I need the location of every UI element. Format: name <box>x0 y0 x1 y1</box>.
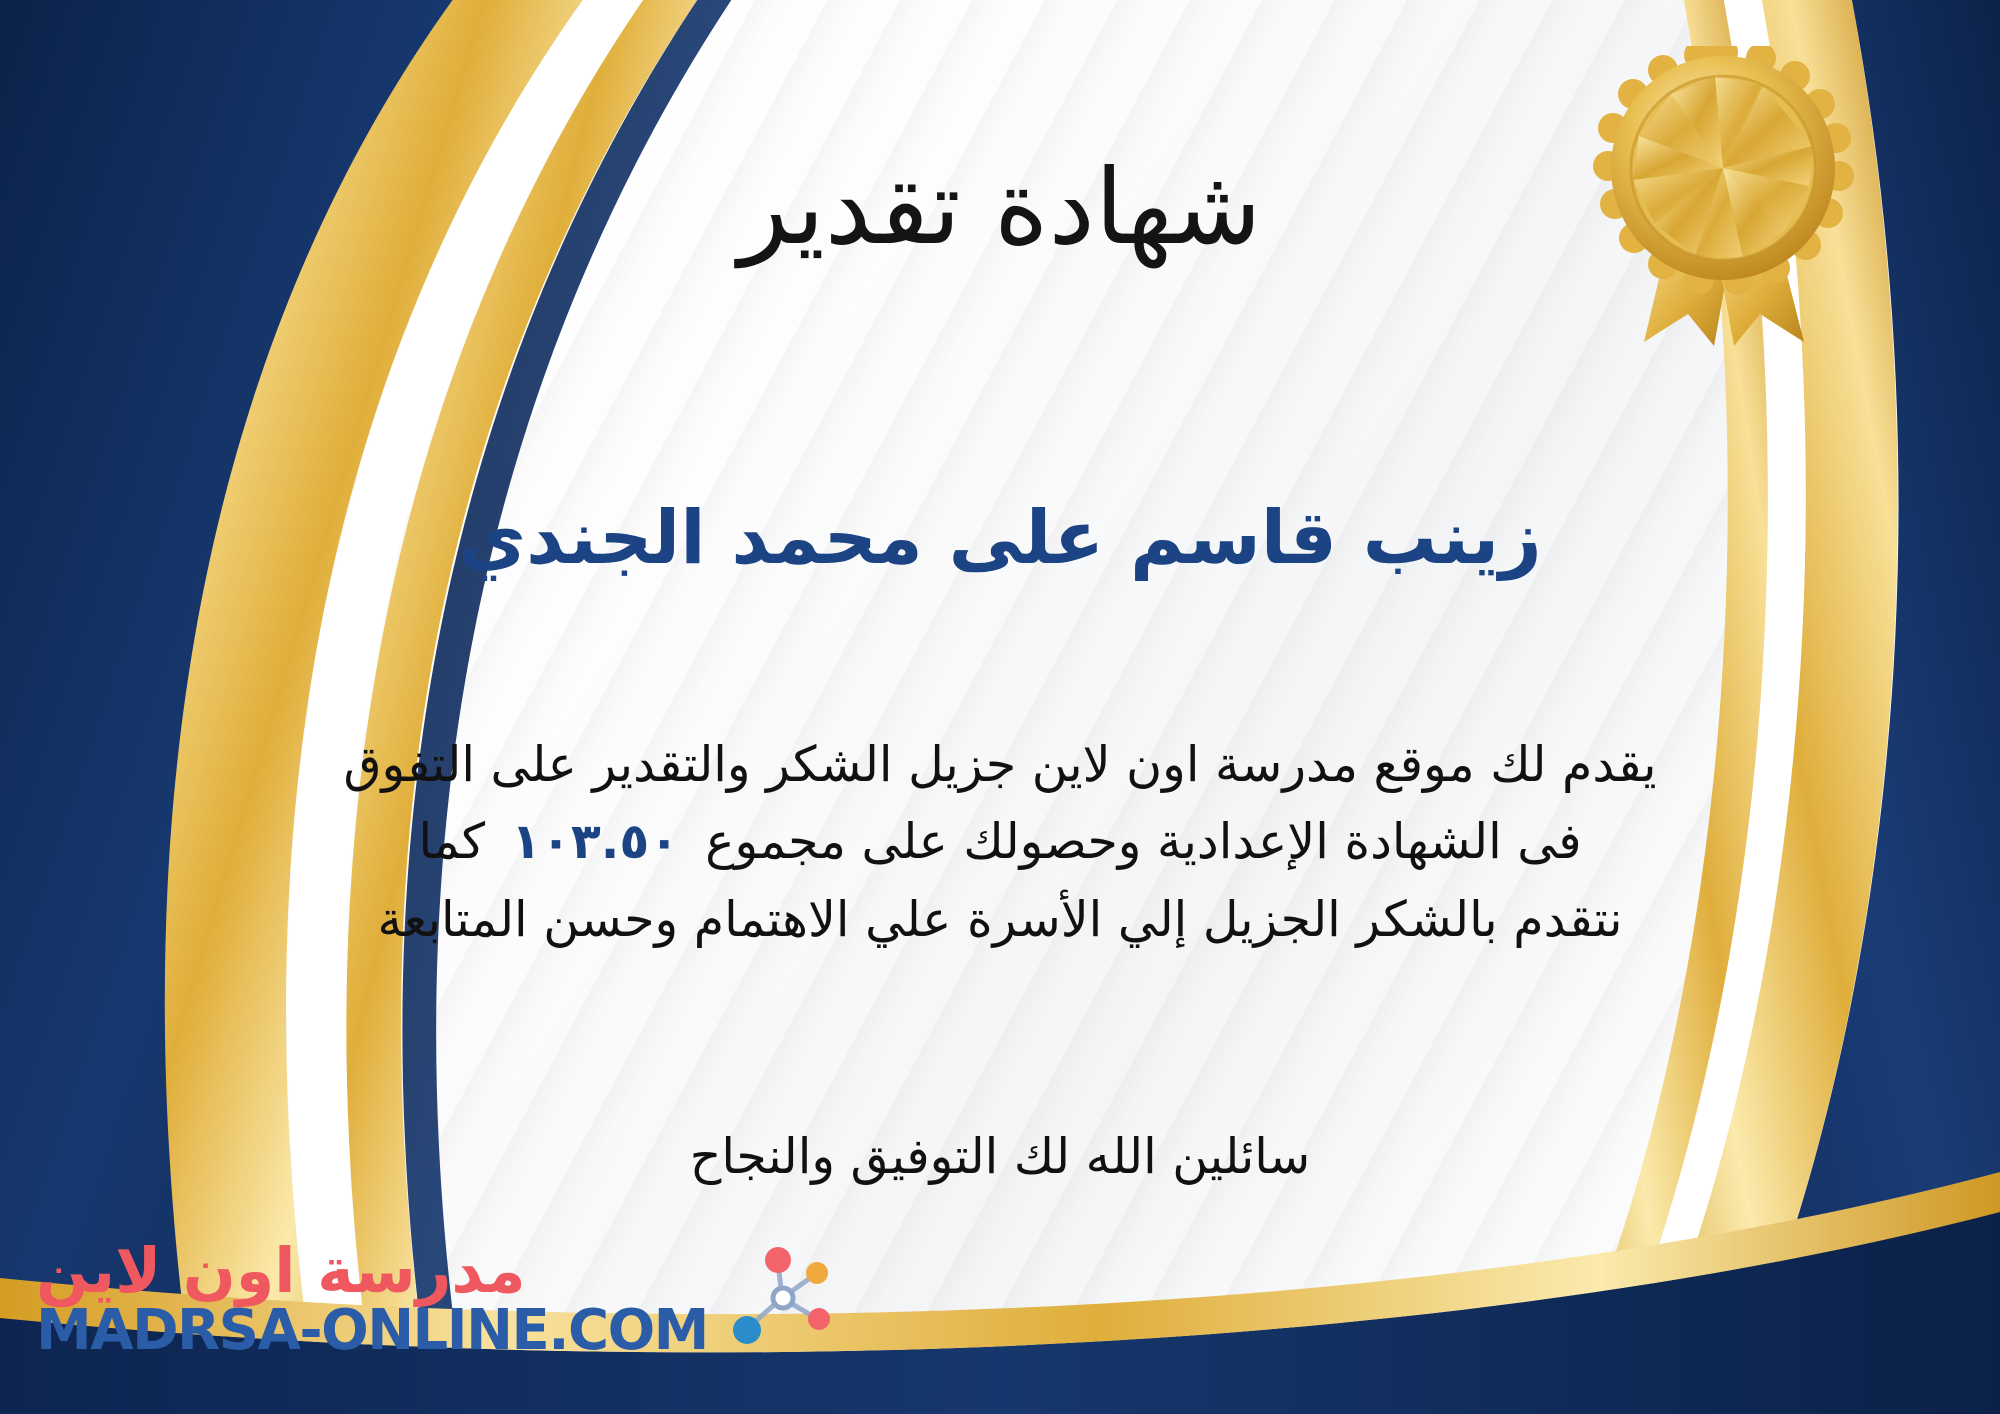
certificate-canvas: شهادة تقدير زينب قاسم على محمد الجندي يق… <box>0 0 2000 1414</box>
body-line-2-before: فى الشهادة الإعدادية وحصولك على مجموع <box>705 813 1581 870</box>
body-line-1: يقدم لك موقع مدرسة اون لاين جزيل الشكر و… <box>80 726 1920 803</box>
brand-website-url: MADRSA-ONLINE.COM <box>36 1302 708 1361</box>
grade-value: ١٠٣.٥٠ <box>485 813 705 870</box>
body-line-2: فى الشهادة الإعدادية وحصولك على مجموع١٠٣… <box>80 803 1920 880</box>
brand-arabic-name: مدرسة اون لاين <box>36 1239 526 1302</box>
student-name: زينب قاسم على محمد الجندي <box>0 496 2000 581</box>
certificate-body: يقدم لك موقع مدرسة اون لاين جزيل الشكر و… <box>0 726 2000 958</box>
body-line-2-after: كما <box>418 813 485 870</box>
closing-line: سائلين الله لك التوفيق والنجاح <box>0 1120 2000 1194</box>
body-line-3: نتقدم بالشكر الجزيل إلي الأسرة علي الاهت… <box>80 881 1920 958</box>
brand-text-block: مدرسة اون لاين MADRSA-ONLINE.COM <box>36 1239 708 1361</box>
award-medal-icon <box>1592 46 1854 346</box>
brand-logo[interactable]: مدرسة اون لاين MADRSA-ONLINE.COM <box>36 1220 596 1380</box>
network-nodes-icon <box>720 1240 840 1360</box>
